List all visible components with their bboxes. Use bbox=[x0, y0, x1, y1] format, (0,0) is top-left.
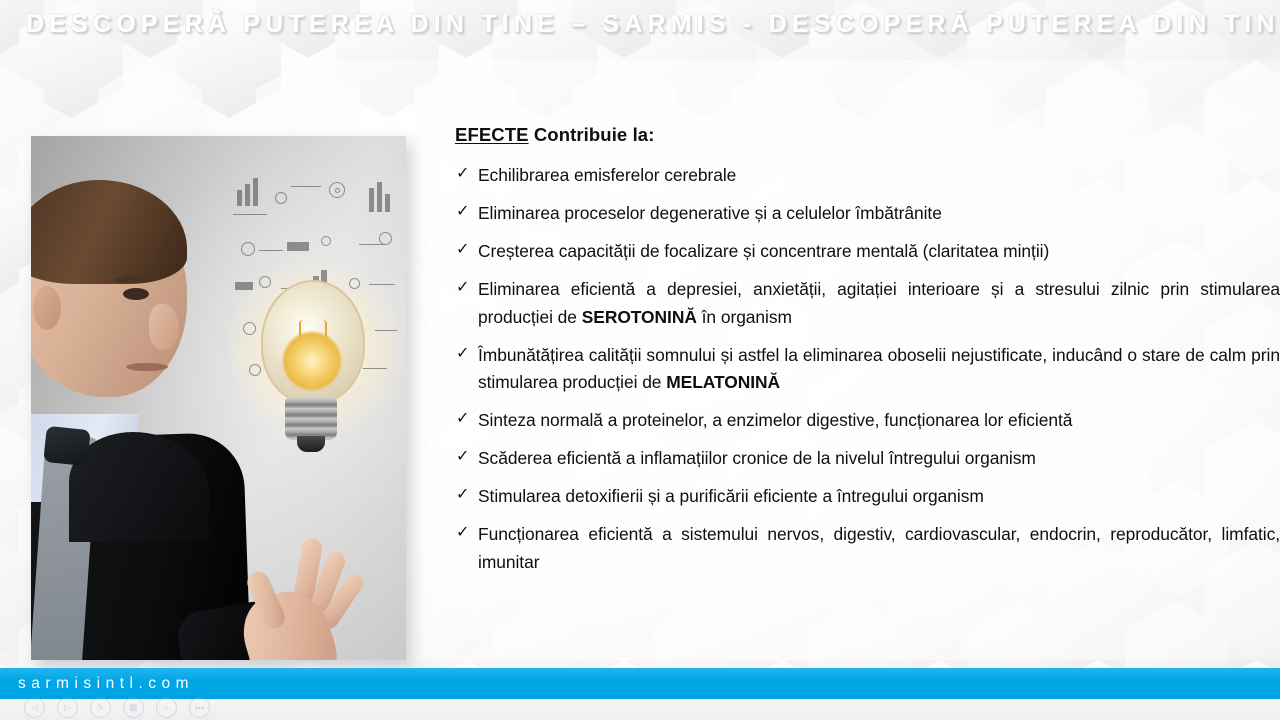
previous-slide-icon[interactable]: ◁ bbox=[24, 697, 45, 718]
effects-list-item-text: Funcționarea eficientă a sistemului nerv… bbox=[478, 524, 1280, 572]
sketch-doodle bbox=[335, 188, 340, 193]
effects-list-item: ✓Îmbunătățirea calității somnului și ast… bbox=[455, 342, 1280, 397]
checkmark-icon: ✓ bbox=[456, 161, 469, 186]
effects-list: ✓Echilibrarea emisferelor cerebrale✓Elim… bbox=[455, 162, 1280, 576]
pen-tools-icon[interactable]: ✎ bbox=[90, 697, 111, 718]
slide-header: DESCOPERĂ PUTEREA DIN TINE – SARMIS - DE… bbox=[0, 0, 1280, 48]
sketch-doodle bbox=[253, 178, 258, 206]
effects-list-item: ✓Stimularea detoxifierii și a purificări… bbox=[455, 483, 1280, 511]
lead-rest: Contribuie la: bbox=[529, 124, 655, 145]
lightbulb-light bbox=[283, 332, 341, 390]
sketch-doodle bbox=[377, 182, 382, 212]
checkmark-icon: ✓ bbox=[456, 199, 469, 224]
sketch-doodle bbox=[369, 188, 374, 212]
checkmark-icon: ✓ bbox=[456, 444, 469, 469]
sketch-doodle bbox=[235, 282, 253, 290]
photo-nose bbox=[149, 304, 179, 350]
sketch-doodle bbox=[379, 232, 392, 245]
effects-list-item-text: Eliminarea proceselor degenerative și a … bbox=[478, 203, 942, 223]
sketch-doodle bbox=[259, 250, 283, 251]
sketch-doodle bbox=[375, 330, 397, 331]
photo-ear bbox=[33, 286, 61, 330]
effects-list-item-text: Echilibrarea emisferelor cerebrale bbox=[478, 165, 736, 185]
photo-eye bbox=[123, 288, 149, 300]
slide-overview-icon[interactable]: ▦ bbox=[123, 697, 144, 718]
effects-list-item-text: Îmbunătățirea calității somnului și astf… bbox=[478, 345, 1280, 393]
photo-mouth bbox=[126, 363, 168, 371]
checkmark-icon: ✓ bbox=[456, 520, 469, 545]
effects-list-item-text: Sinteza normală a proteinelor, a enzimel… bbox=[478, 410, 1072, 430]
sketch-doodle bbox=[249, 364, 261, 376]
sketch-doodle bbox=[369, 284, 395, 285]
effects-list-item-emphasis: MELATONINĂ bbox=[666, 372, 780, 392]
effects-list-item: ✓Echilibrarea emisferelor cerebrale bbox=[455, 162, 1280, 190]
sketch-doodle bbox=[349, 278, 360, 289]
effects-list-item: ✓Sinteza normală a proteinelor, a enzime… bbox=[455, 407, 1280, 435]
sketch-doodle bbox=[291, 186, 321, 187]
photo-open-hand bbox=[241, 536, 361, 660]
footer-bar: sarmisintl.com bbox=[0, 668, 1280, 699]
sketch-doodle bbox=[287, 242, 309, 251]
next-slide-icon[interactable]: ▷ bbox=[57, 697, 78, 718]
sketch-doodle bbox=[233, 214, 267, 215]
slide-photo bbox=[31, 136, 406, 660]
photo-tie-knot bbox=[43, 426, 91, 466]
lightbulb-base-tip bbox=[297, 436, 325, 452]
sketch-doodle bbox=[321, 236, 331, 246]
effects-list-item: ✓Creșterea capacității de focalizare și … bbox=[455, 238, 1280, 266]
checkmark-icon: ✓ bbox=[456, 341, 469, 366]
page-title: DESCOPERĂ PUTEREA DIN TINE – SARMIS - DE… bbox=[26, 10, 1280, 39]
effects-list-item: ✓Eliminarea eficientă a depresiei, anxie… bbox=[455, 276, 1280, 331]
effects-list-item-text: Creșterea capacității de focalizare și c… bbox=[478, 241, 1049, 261]
sketch-doodle bbox=[245, 184, 250, 206]
sketch-doodle bbox=[259, 276, 271, 288]
presentation-slide: DESCOPERĂ PUTEREA DIN TINE – SARMIS - DE… bbox=[0, 0, 1280, 720]
effects-list-item: ✓Scăderea eficientă a inflamațiilor cron… bbox=[455, 445, 1280, 473]
photo-backdrop bbox=[31, 136, 406, 660]
sketch-doodle bbox=[243, 322, 256, 335]
content-lead: EFECTE Contribuie la: bbox=[455, 124, 1280, 146]
checkmark-icon: ✓ bbox=[456, 275, 469, 300]
sketch-doodle bbox=[363, 368, 387, 369]
sketch-doodle bbox=[241, 242, 255, 256]
slide-content: EFECTE Contribuie la: ✓Echilibrarea emis… bbox=[455, 124, 1280, 587]
effects-list-item-emphasis: SEROTONINĂ bbox=[582, 307, 697, 327]
checkmark-icon: ✓ bbox=[456, 482, 469, 507]
effects-list-item-text: Scăderea eficientă a inflamațiilor croni… bbox=[478, 448, 1036, 468]
zoom-slide-icon[interactable]: ⌕ bbox=[156, 697, 177, 718]
sketch-doodle bbox=[385, 194, 390, 212]
more-options-icon[interactable]: ••• bbox=[189, 697, 210, 718]
effects-list-item-text: Stimularea detoxifierii și a purificării… bbox=[478, 486, 984, 506]
checkmark-icon: ✓ bbox=[456, 237, 469, 262]
effects-list-item: ✓Funcționarea eficientă a sistemului ner… bbox=[455, 521, 1280, 576]
sketch-doodle bbox=[237, 190, 242, 206]
checkmark-icon: ✓ bbox=[456, 406, 469, 431]
lightbulb-screw-base bbox=[285, 398, 337, 440]
effects-list-item: ✓Eliminarea proceselor degenerative și a… bbox=[455, 200, 1280, 228]
lead-keyword: EFECTE bbox=[455, 124, 529, 145]
effects-list-item-text: în organism bbox=[697, 307, 792, 327]
website-label: sarmisintl.com bbox=[18, 675, 194, 693]
presentation-controls[interactable]: ◁▷✎▦⌕••• bbox=[24, 697, 210, 718]
sketch-doodle bbox=[275, 192, 287, 204]
